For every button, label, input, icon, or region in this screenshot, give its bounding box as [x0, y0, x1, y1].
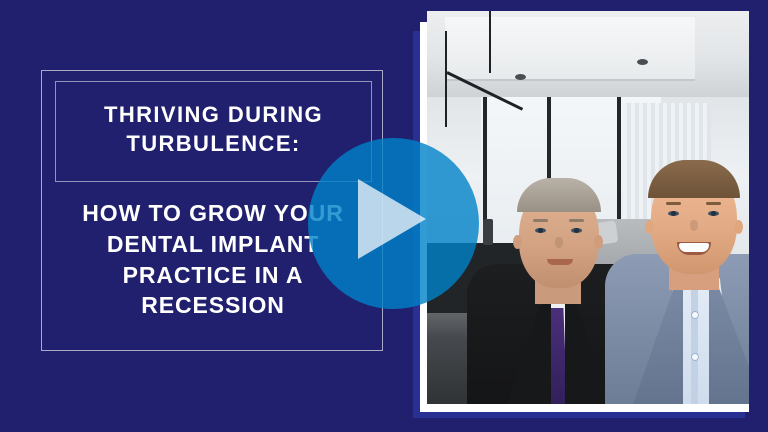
presenter-right-brow-r	[706, 202, 721, 205]
slide-title: THRIVING DURING TURBULENCE:	[55, 100, 372, 158]
presenter-right-placket	[691, 286, 698, 404]
presenter-right-ear-r	[734, 220, 743, 234]
presenter-left-hair	[517, 178, 601, 212]
presenter-right-nose	[690, 220, 698, 231]
photo-pendant-rod-1	[445, 31, 447, 127]
photo-downlight-1	[515, 74, 526, 80]
presenter-right-hair	[648, 160, 740, 198]
presenter-right-button-1	[692, 312, 698, 318]
subtitle-line-4: RECESSION	[48, 290, 378, 321]
presenter-left-eye-l	[535, 228, 546, 233]
photo-ceiling-inset	[445, 17, 695, 81]
presenter-left-ear-l	[513, 235, 522, 249]
presenter-right-button-2	[692, 354, 698, 360]
photo-downlight-2	[637, 59, 648, 65]
title-line-2: TURBULENCE:	[55, 129, 372, 158]
video-thumbnail-slide: THRIVING DURING TURBULENCE: HOW TO GROW …	[0, 0, 768, 432]
title-line-1: THRIVING DURING	[55, 100, 372, 129]
presenter-right-teeth	[679, 243, 709, 252]
photo-pendant-rod-2	[489, 11, 491, 73]
presenter-right	[605, 149, 749, 404]
play-triangle-icon[interactable]	[358, 179, 426, 259]
presenter-left-nose	[555, 237, 563, 248]
presenter-right-mouth	[677, 242, 711, 255]
presenter-right-brow-l	[666, 202, 681, 205]
presenter-left-brow-l	[533, 219, 548, 222]
presenter-right-ear-l	[645, 220, 654, 234]
presenter-right-eye-l	[668, 211, 679, 216]
presenter-left-eye-r	[571, 228, 582, 233]
presenter-left-ear-r	[594, 235, 603, 249]
presenter-left-mouth	[547, 259, 573, 265]
presenter-right-eye-r	[708, 211, 719, 216]
presenter-left-brow-r	[569, 219, 584, 222]
